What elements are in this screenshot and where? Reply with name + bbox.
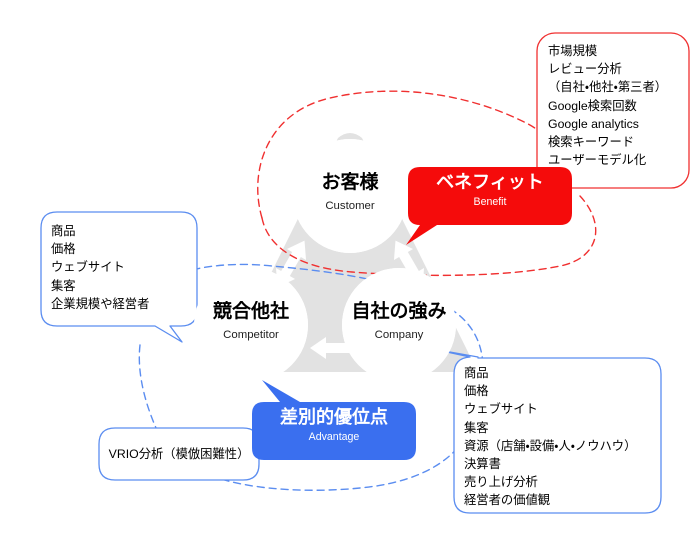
diagram-canvas: 市場規模 レビュー分析 （自社・他社・第三者） Google検索回数 Googl… — [0, 0, 700, 556]
advantage-label-jp: 差別的優位点 — [256, 407, 412, 428]
benefit-label-jp: ベネフィット — [412, 172, 568, 193]
advantage-label-en: Advantage — [256, 430, 412, 444]
banner-layer: ベネフィット Benefit 差別的優位点 Advantage — [0, 0, 700, 556]
advantage-banner[interactable]: 差別的優位点 Advantage — [252, 380, 416, 460]
benefit-label-en: Benefit — [412, 195, 568, 209]
benefit-banner[interactable]: ベネフィット Benefit — [406, 167, 572, 245]
